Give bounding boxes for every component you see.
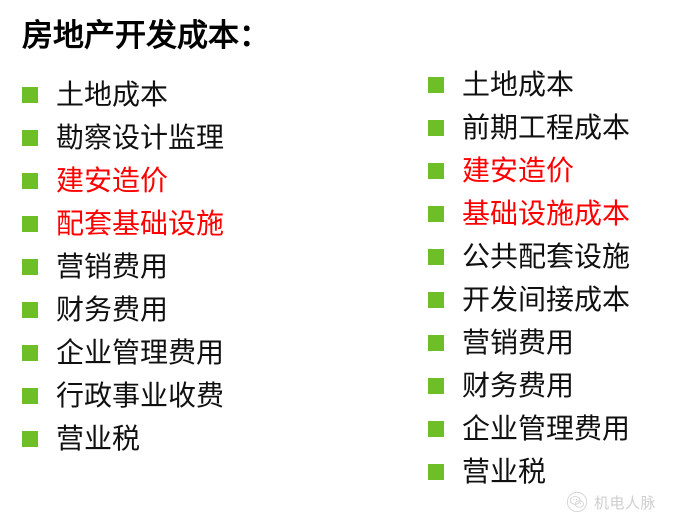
list-item-label: 勘察设计监理: [56, 122, 224, 154]
square-bullet-icon: [22, 130, 38, 146]
square-bullet-icon: [428, 77, 444, 93]
list-item-label: 土地成本: [462, 69, 574, 101]
list-item: 开发间接成本: [428, 278, 678, 321]
list-item: 土地成本: [22, 73, 352, 116]
list-item-label: 土地成本: [56, 79, 168, 111]
square-bullet-icon: [22, 259, 38, 275]
list-item-label: 财务费用: [56, 294, 168, 326]
list-item-label: 行政事业收费: [56, 380, 224, 412]
list-item-label: 公共配套设施: [462, 241, 630, 273]
list-item: 前期工程成本: [428, 106, 678, 149]
square-bullet-icon: [428, 464, 444, 480]
list-item-label: 建安造价: [56, 165, 168, 197]
list-item-label: 企业管理费用: [462, 413, 630, 445]
list-item: 企业管理费用: [22, 331, 352, 374]
watermark-label: 机电人脉: [594, 492, 656, 513]
list-item: 公共配套设施: [428, 235, 678, 278]
list-item-label: 配套基础设施: [56, 208, 224, 240]
list-item: 行政事业收费: [22, 374, 352, 417]
slide-canvas: 房地产开发成本： 土地成本勘察设计监理建安造价配套基础设施营销费用财务费用企业管…: [0, 0, 685, 526]
list-item: 建安造价: [428, 149, 678, 192]
square-bullet-icon: [22, 345, 38, 361]
square-bullet-icon: [22, 431, 38, 447]
right-column: 土地成本前期工程成本建安造价基础设施成本公共配套设施开发间接成本营销费用财务费用…: [428, 63, 678, 493]
square-bullet-icon: [428, 421, 444, 437]
list-item-label: 营销费用: [56, 251, 168, 283]
square-bullet-icon: [428, 292, 444, 308]
square-bullet-icon: [428, 378, 444, 394]
list-item-label: 营业税: [462, 456, 546, 488]
list-item-label: 建安造价: [462, 155, 574, 187]
left-column: 土地成本勘察设计监理建安造价配套基础设施营销费用财务费用企业管理费用行政事业收费…: [22, 73, 352, 460]
list-item: 基础设施成本: [428, 192, 678, 235]
list-item: 营业税: [22, 417, 352, 460]
square-bullet-icon: [22, 173, 38, 189]
list-item: 建安造价: [22, 159, 352, 202]
square-bullet-icon: [22, 216, 38, 232]
list-item: 营业税: [428, 450, 678, 493]
list-item: 财务费用: [428, 364, 678, 407]
square-bullet-icon: [428, 335, 444, 351]
square-bullet-icon: [22, 388, 38, 404]
square-bullet-icon: [428, 249, 444, 265]
list-item-label: 营业税: [56, 423, 140, 455]
square-bullet-icon: [428, 206, 444, 222]
list-item-label: 营销费用: [462, 327, 574, 359]
watermark: 机电人脉: [566, 491, 656, 513]
page-title: 房地产开发成本：: [22, 16, 270, 56]
list-item-label: 开发间接成本: [462, 284, 630, 316]
list-item-label: 前期工程成本: [462, 112, 630, 144]
list-item: 财务费用: [22, 288, 352, 331]
list-item-label: 企业管理费用: [56, 337, 224, 369]
list-item-label: 财务费用: [462, 370, 574, 402]
list-item: 土地成本: [428, 63, 678, 106]
list-item: 营销费用: [22, 245, 352, 288]
list-item: 营销费用: [428, 321, 678, 364]
square-bullet-icon: [428, 163, 444, 179]
list-item-label: 基础设施成本: [462, 198, 630, 230]
list-item: 勘察设计监理: [22, 116, 352, 159]
list-item: 企业管理费用: [428, 407, 678, 450]
square-bullet-icon: [22, 87, 38, 103]
wechat-icon: [566, 491, 588, 513]
list-item: 配套基础设施: [22, 202, 352, 245]
square-bullet-icon: [428, 120, 444, 136]
square-bullet-icon: [22, 302, 38, 318]
